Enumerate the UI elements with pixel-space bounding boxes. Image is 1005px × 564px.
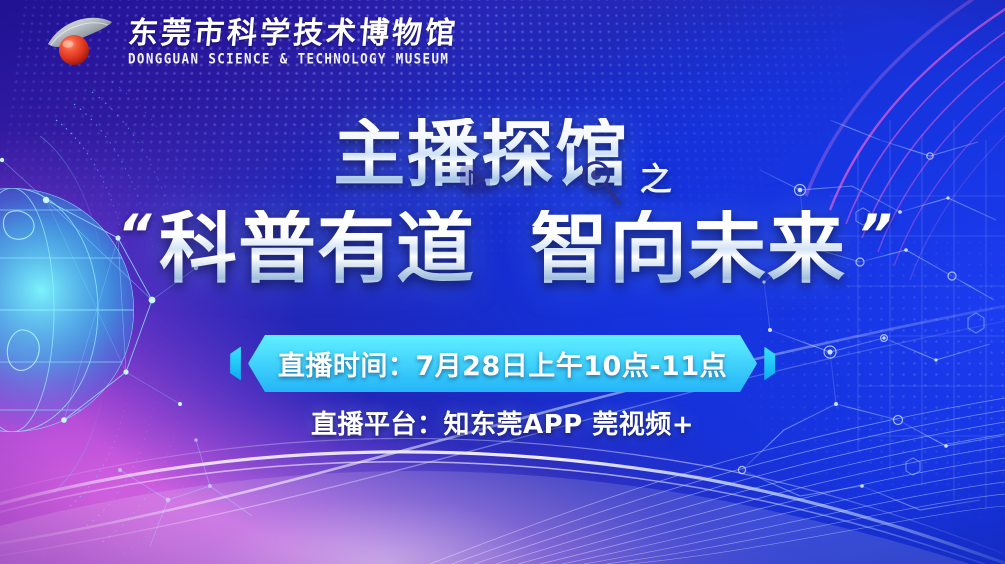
live-platform-block: 直播平台：知东莞APP 莞视频+ [0,404,1005,441]
close-quote-mark: ” [850,203,895,266]
banner-right-tip-icon [764,347,775,381]
magnifying-glass-icon [577,156,623,208]
poster-canvas: 东莞市科学技术博物馆 DONGGUAN SCIENCE & TECHNOLOGY… [0,0,1005,564]
title-block: 主播探馆 之 [0,118,1005,190]
logo-english-name: DONGGUAN SCIENCE & TECHNOLOGY MUSEUM [128,52,458,66]
live-time-banner: 直播时间：7月28日上午10点-11点 [230,335,775,392]
subtitle-left: 科普有道 [159,210,475,288]
page-title: 主播探馆 [333,118,629,190]
eye-sphere-logo-icon [46,14,120,70]
live-time-text: 直播时间：7月28日上午10点-11点 [278,344,727,383]
banner-box: 直播时间：7月28日上午10点-11点 [248,335,757,392]
museum-logo: 东莞市科学技术博物馆 DONGGUAN SCIENCE & TECHNOLOGY… [46,14,458,70]
subtitle-right: 智向未来 [530,210,846,288]
subtitle-block: “ 科普有道 智向未来 ” [0,210,1005,288]
open-quote-mark: “ [110,203,155,266]
live-platform-text: 直播平台：知东莞APP 莞视频+ [311,410,694,440]
logo-chinese-name: 东莞市科学技术博物馆 [127,19,460,49]
banner-left-tip-icon [230,347,241,381]
page-title-suffix: 之 [640,161,672,197]
play-triangle-icon [459,164,491,194]
